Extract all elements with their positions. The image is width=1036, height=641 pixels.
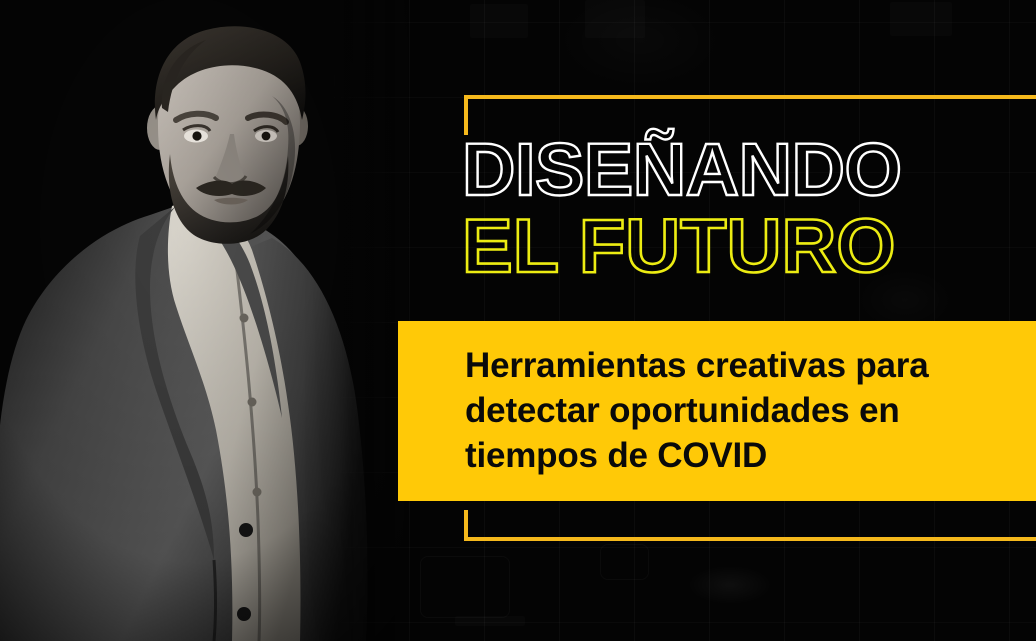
subtitle-line-two: detectar oportunidades en (465, 388, 1006, 433)
headline-block: DISEÑANDO EL FUTURO (462, 136, 902, 282)
subtitle-line-three: tiempos de COVID (465, 433, 1006, 478)
headline-line-two: EL FUTURO (462, 212, 902, 282)
presentation-slide: DISEÑANDO EL FUTURO Herramientas creativ… (0, 0, 1036, 641)
speaker-portrait (0, 0, 420, 641)
headline-line-one: DISEÑANDO (462, 136, 902, 204)
portrait-fade-mask (0, 0, 420, 641)
bracket-vertical-segment (464, 510, 468, 541)
portrait-vignette (0, 0, 420, 641)
subtitle-panel: Herramientas creativas para detectar opo… (398, 321, 1036, 501)
bracket-horizontal-rule (464, 537, 1036, 541)
subtitle-line-one: Herramientas creativas para (465, 343, 1006, 388)
bracket-horizontal-rule (464, 95, 1036, 99)
bottom-left-bracket-rule (464, 510, 1036, 541)
subtitle-text-block: Herramientas creativas para detectar opo… (465, 343, 1006, 478)
portrait-illustration (0, 0, 420, 641)
